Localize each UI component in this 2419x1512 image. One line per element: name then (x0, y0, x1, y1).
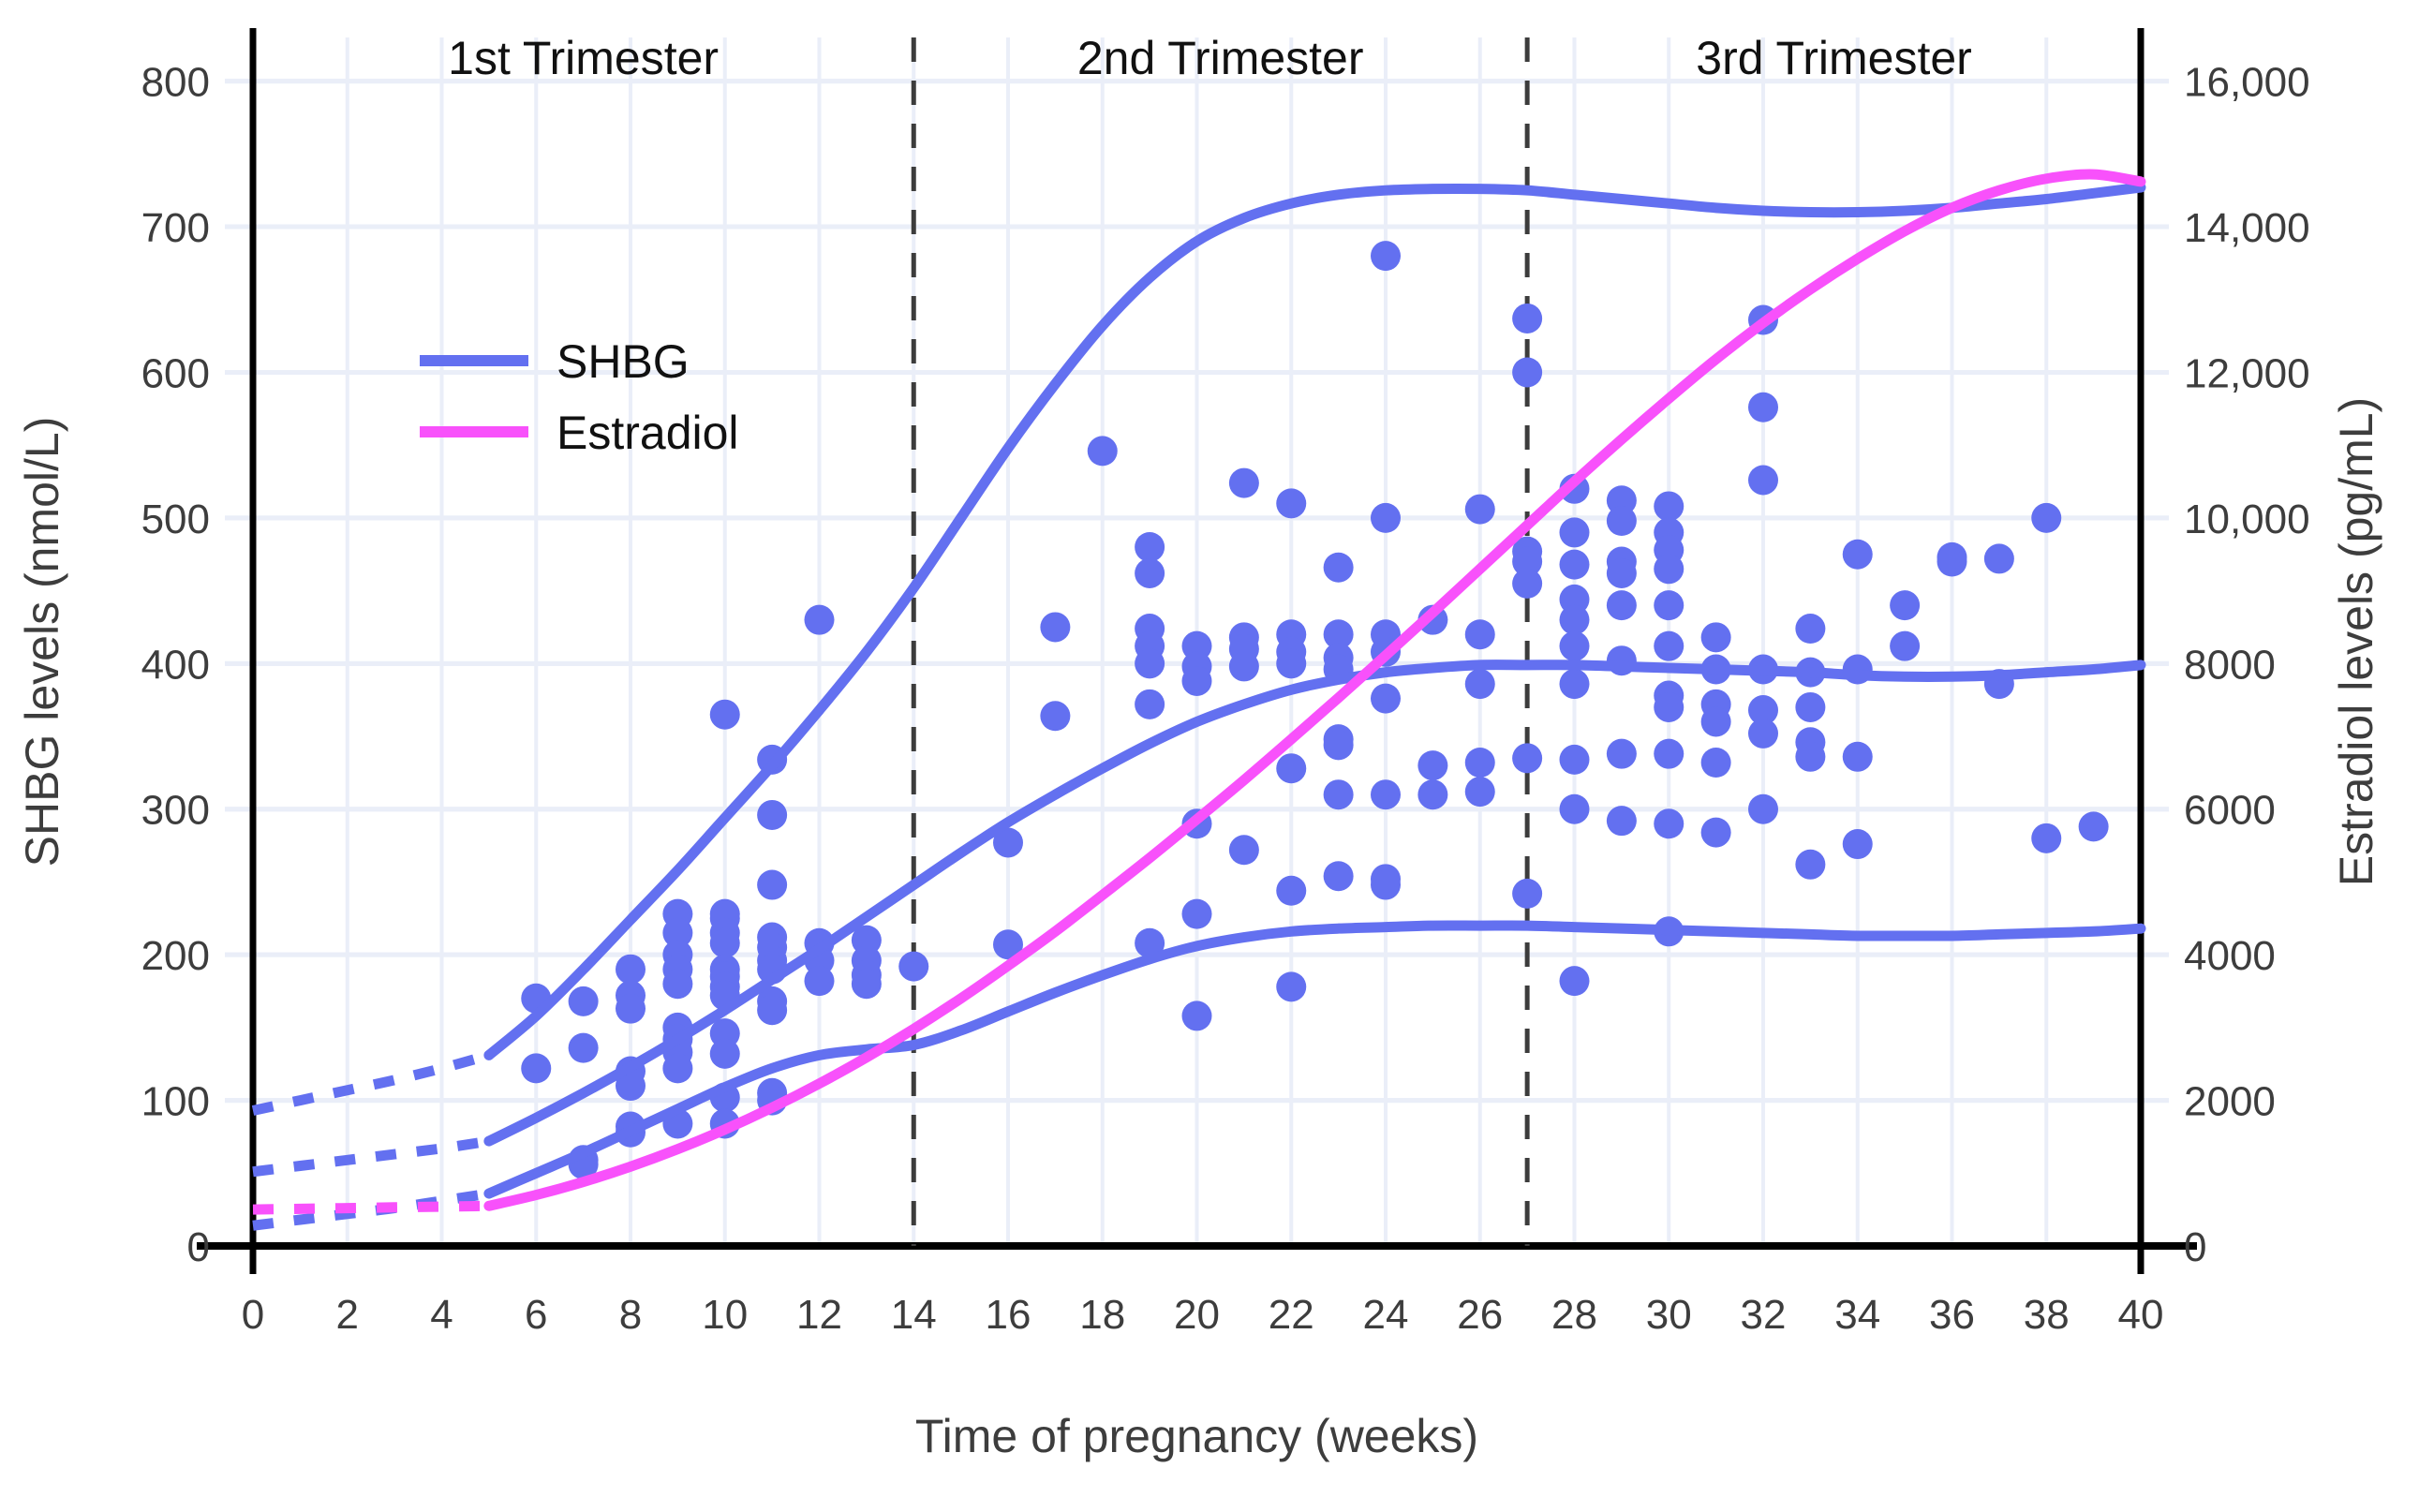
x-tick-label: 30 (1646, 1292, 1692, 1338)
x-tick-label: 18 (1079, 1292, 1125, 1338)
x-tick-label: 22 (1269, 1292, 1314, 1338)
scatter-point (1560, 745, 1590, 775)
scatter-point (1843, 742, 1873, 772)
y-axis-left-ticks: 0100200300400500600700800 (141, 60, 210, 1270)
x-tick-label: 6 (525, 1292, 547, 1338)
legend-label-shbg: SHBG (557, 335, 690, 388)
scatter-point (710, 700, 740, 730)
scatter-point (1135, 532, 1165, 562)
y-axis-left-title: SHBG levels (nmol/L) (16, 417, 68, 867)
trimester-label: 1st Trimester (448, 32, 719, 84)
x-tick-label: 2 (336, 1292, 359, 1338)
scatter-point (1371, 241, 1401, 271)
scatter-point (1890, 590, 1920, 620)
scatter-point (1371, 779, 1401, 809)
scatter-point (1324, 553, 1354, 583)
scatter-point (1654, 692, 1684, 722)
scatter-point (1701, 818, 1731, 848)
scatter-point (1229, 835, 1259, 865)
scatter-point (1135, 648, 1165, 678)
scatter-point (2079, 811, 2109, 841)
scatter-point (1654, 631, 1684, 661)
scatter-point (1229, 468, 1259, 498)
x-axis-title: Time of pregnancy (weeks) (915, 1410, 1478, 1462)
scatter-point (1560, 966, 1590, 996)
scatter-point (1040, 701, 1070, 731)
scatter-point (1512, 879, 1542, 909)
scatter-point (1276, 488, 1306, 518)
trimester-label: 2nd Trimester (1077, 32, 1364, 84)
x-tick-label: 28 (1551, 1292, 1597, 1338)
scatter-point (1937, 547, 1967, 577)
scatter-point (1276, 876, 1306, 906)
scatter-point (757, 800, 787, 830)
scatter-point (710, 1039, 740, 1069)
scatter-point (1607, 558, 1637, 588)
x-tick-label: 16 (986, 1292, 1031, 1338)
scatter-point (1654, 808, 1684, 838)
scatter-point (1654, 554, 1684, 584)
y-tick-label-right: 14,000 (2184, 205, 2310, 251)
scatter-point (2031, 503, 2061, 533)
x-tick-label: 38 (2024, 1292, 2070, 1338)
scatter-point (1843, 829, 1873, 859)
scatter-point (1088, 436, 1118, 466)
scatter-point (757, 995, 787, 1025)
y-tick-label-right: 0 (2184, 1224, 2206, 1270)
scatter-point (1890, 631, 1920, 661)
x-tick-label: 40 (2118, 1292, 2164, 1338)
scatter-point (1512, 569, 1542, 599)
y-tick-label-left: 600 (141, 350, 210, 396)
scatter-point (1324, 779, 1354, 809)
scatter-point (662, 969, 692, 999)
scatter-point (1465, 777, 1495, 807)
y-tick-label-left: 100 (141, 1079, 210, 1125)
scatter-point (1040, 612, 1070, 642)
scatter-point (1748, 465, 1778, 495)
scatter-point (1795, 692, 1825, 722)
scatter-point (1607, 739, 1637, 769)
scatter-point (1701, 748, 1731, 778)
x-tick-label: 0 (242, 1292, 264, 1338)
scatter-point (616, 994, 646, 1024)
x-tick-label: 32 (1741, 1292, 1787, 1338)
scatter-point (805, 966, 835, 996)
scatter-point (1654, 739, 1684, 769)
y-tick-label-left: 500 (141, 497, 210, 542)
y-tick-label-right: 6000 (2184, 788, 2276, 834)
scatter-point (1229, 651, 1259, 681)
y-axis-right-title: Estradiol levels (pg/mL) (2330, 397, 2382, 886)
scatter-point (1324, 730, 1354, 760)
scatter-point (1560, 631, 1590, 661)
x-axis-ticks: 0246810121416182022242628303234363840 (242, 1292, 2164, 1338)
x-tick-label: 36 (1929, 1292, 1975, 1338)
scatter-point (1560, 517, 1590, 547)
y-tick-label-right: 2000 (2184, 1079, 2276, 1125)
scatter-point (1465, 748, 1495, 778)
scatter-point (1607, 506, 1637, 536)
scatter-point (1371, 684, 1401, 714)
y-tick-label-left: 800 (141, 60, 210, 106)
scatter-point (1607, 590, 1637, 620)
scatter-point (1276, 753, 1306, 783)
y-tick-label-left: 200 (141, 933, 210, 979)
scatter-point (1560, 550, 1590, 580)
scatter-point (1654, 590, 1684, 620)
scatter-point (805, 605, 835, 635)
scatter-point (662, 1053, 692, 1083)
scatter-point (1512, 304, 1542, 334)
scatter-point (1371, 503, 1401, 533)
scatter-point (521, 1053, 551, 1083)
scatter-point (1276, 971, 1306, 1001)
scatter-point (1795, 742, 1825, 772)
scatter-point (1984, 543, 2014, 573)
scatter-point (1135, 558, 1165, 588)
scatter-point (1182, 899, 1212, 929)
scatter-point (1748, 719, 1778, 749)
scatter-point (1182, 1001, 1212, 1030)
scatter-point (1417, 750, 1447, 780)
y-tick-label-left: 400 (141, 642, 210, 688)
scatter-point (1748, 393, 1778, 422)
x-tick-label: 12 (796, 1292, 842, 1338)
y-tick-label-right: 4000 (2184, 933, 2276, 979)
scatter-point (1465, 669, 1495, 699)
scatter-point (1560, 669, 1590, 699)
scatter-point (1182, 666, 1212, 696)
scatter-point (1607, 806, 1637, 836)
chart-root: 0246810121416182022242628303234363840 01… (0, 0, 2419, 1512)
scatter-point (1560, 794, 1590, 824)
scatter-point (569, 1033, 599, 1063)
x-tick-label: 14 (891, 1292, 937, 1338)
y-tick-label-right: 10,000 (2184, 497, 2310, 542)
scatter-point (1843, 540, 1873, 570)
x-tick-label: 20 (1174, 1292, 1220, 1338)
scatter-point (1701, 622, 1731, 652)
scatter-point (710, 928, 740, 958)
scatter-point (852, 969, 882, 999)
scatter-point (1324, 861, 1354, 891)
scatter-point (898, 952, 928, 982)
scatter-point (1795, 850, 1825, 880)
scatter-point (1748, 794, 1778, 824)
scatter-point (1135, 689, 1165, 719)
y-tick-label-left: 0 (187, 1224, 210, 1270)
scatter-point (757, 870, 787, 900)
scatter-point (1417, 779, 1447, 809)
y-tick-label-right: 16,000 (2184, 60, 2310, 106)
x-tick-label: 10 (702, 1292, 748, 1338)
trimester-label: 3rd Trimester (1696, 32, 1972, 84)
scatter-point (1276, 648, 1306, 678)
scatter-point (1560, 605, 1590, 635)
x-tick-label: 34 (1834, 1292, 1880, 1338)
scatter-point (1654, 491, 1684, 521)
y-tick-label-right: 12,000 (2184, 350, 2310, 396)
shbg-estradiol-pregnancy-chart: 0246810121416182022242628303234363840 01… (0, 0, 2419, 1512)
x-tick-label: 26 (1457, 1292, 1503, 1338)
x-tick-label: 24 (1363, 1292, 1409, 1338)
scatter-point (1512, 357, 1542, 387)
scatter-point (616, 955, 646, 985)
scatter-point (1371, 870, 1401, 900)
y-tick-label-right: 8000 (2184, 642, 2276, 688)
y-tick-label-left: 300 (141, 788, 210, 834)
x-tick-label: 8 (619, 1292, 642, 1338)
y-tick-label-left: 700 (141, 205, 210, 251)
trimester-labels: 1st Trimester2nd Trimester3rd Trimester (448, 32, 1972, 84)
scatter-point (2031, 823, 2061, 853)
scatter-point (1701, 706, 1731, 736)
scatter-point (1465, 495, 1495, 525)
scatter-point (1465, 619, 1495, 649)
x-tick-label: 4 (430, 1292, 453, 1338)
scatter-point (1795, 614, 1825, 644)
legend-label-estradiol: Estradiol (557, 407, 739, 459)
scatter-point (569, 986, 599, 1016)
scatter-point (1512, 743, 1542, 773)
